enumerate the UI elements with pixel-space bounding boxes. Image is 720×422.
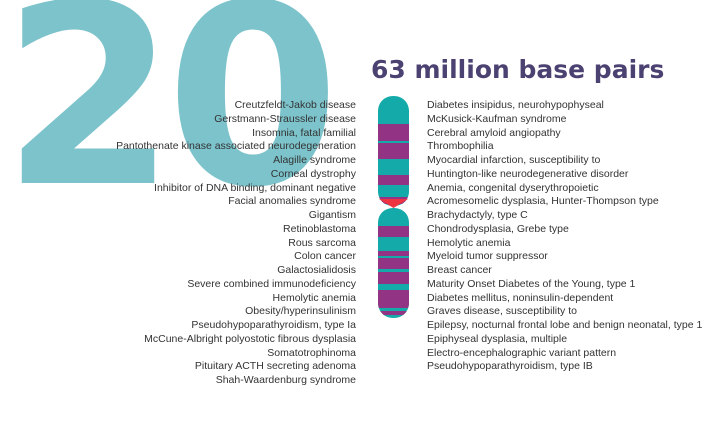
disease-right-item: Maturity Onset Diabetes of the Young, ty…: [427, 278, 720, 292]
disease-left-item: Severe combined immunodeficiency: [0, 278, 356, 292]
disease-right-item: Epilepsy, nocturnal frontal lobe and ben…: [427, 319, 720, 333]
disease-right-item: Myeloid tumor suppressor: [427, 250, 720, 264]
disease-left-item: Pituitary ACTH secreting adenoma: [0, 360, 356, 374]
disease-right-item: Hemolytic anemia: [427, 237, 720, 251]
right-disease-list: Diabetes insipidus, neurohypophysealMcKu…: [427, 99, 720, 374]
disease-left-item: McCune-Albright polyostotic fibrous dysp…: [0, 333, 356, 347]
disease-left-item: Hemolytic anemia: [0, 292, 356, 306]
disease-right-item: Electro-encephalographic variant pattern: [427, 347, 720, 361]
disease-left-item: Creutzfeldt-Jakob disease: [0, 99, 356, 113]
disease-left-item: Pseudohypoparathyroidism, type Ia: [0, 319, 356, 333]
disease-right-item: McKusick-Kaufman syndrome: [427, 113, 720, 127]
disease-left-item: Insomnia, fatal familial: [0, 127, 356, 141]
disease-left-item: Inhibitor of DNA binding, dominant negat…: [0, 182, 356, 196]
disease-left-item: Colon cancer: [0, 250, 356, 264]
disease-left-item: Rous sarcoma: [0, 237, 356, 251]
left-disease-list: Creutzfeldt-Jakob diseaseGerstmann-Strau…: [0, 99, 356, 388]
disease-right-item: Cerebral amyloid angiopathy: [427, 127, 720, 141]
disease-right-item: Huntington-like neurodegenerative disord…: [427, 168, 720, 182]
disease-right-item: Brachydactyly, type C: [427, 209, 720, 223]
disease-left-item: Somatotrophinoma: [0, 347, 356, 361]
disease-right-item: Pseudohypoparathyroidism, type IB: [427, 360, 720, 374]
disease-right-item: Diabetes mellitus, noninsulin-dependent: [427, 292, 720, 306]
disease-left-item: Gigantism: [0, 209, 356, 223]
disease-right-item: Thrombophilia: [427, 140, 720, 154]
disease-left-item: Corneal dystrophy: [0, 168, 356, 182]
disease-left-item: Facial anomalies syndrome: [0, 195, 356, 209]
disease-left-item: Shah-Waardenburg syndrome: [0, 374, 356, 388]
disease-right-item: Anemia, congenital dyserythropoietic: [427, 182, 720, 196]
disease-right-item: Epiphyseal dysplasia, multiple: [427, 333, 720, 347]
disease-left-item: Obesity/hyperinsulinism: [0, 305, 356, 319]
disease-right-item: Acromesomelic dysplasia, Hunter-Thompson…: [427, 195, 720, 209]
ideogram-q-arm: [377, 206, 410, 318]
ideogram-p-arm: [377, 96, 410, 208]
disease-left-item: Galactosialidosis: [0, 264, 356, 278]
chromosome-20-ideogram: [377, 96, 410, 318]
disease-left-item: Gerstmann-Straussler disease: [0, 113, 356, 127]
page-title: 63 million base pairs: [371, 55, 664, 85]
disease-right-item: Myocardial infarction, susceptibility to: [427, 154, 720, 168]
disease-right-item: Chondrodysplasia, Grebe type: [427, 223, 720, 237]
disease-right-item: Graves disease, susceptibility to: [427, 305, 720, 319]
disease-right-item: Breast cancer: [427, 264, 720, 278]
disease-left-item: Alagille syndrome: [0, 154, 356, 168]
disease-left-item: Pantothenate kinase associated neurodege…: [0, 140, 356, 154]
disease-right-item: Diabetes insipidus, neurohypophyseal: [427, 99, 720, 113]
disease-left-item: Retinoblastoma: [0, 223, 356, 237]
